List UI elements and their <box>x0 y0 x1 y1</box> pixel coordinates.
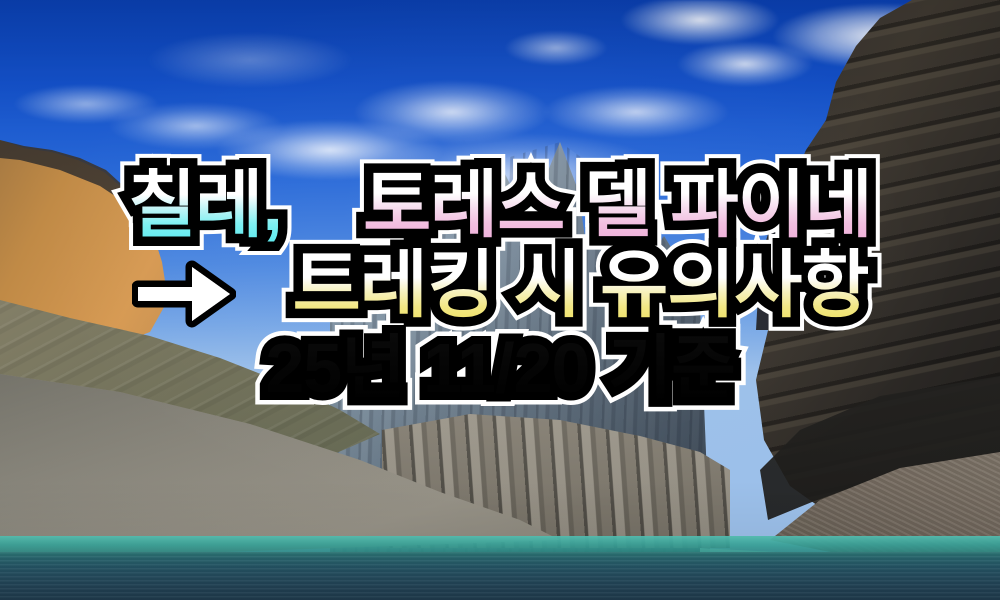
thumbnail-canvas: 칠레, 칠레, 칠레, 토레스 델 파이네 토레스 델 파이네 토레스 델 파이… <box>0 0 1000 600</box>
lake-ripples <box>0 552 1000 600</box>
